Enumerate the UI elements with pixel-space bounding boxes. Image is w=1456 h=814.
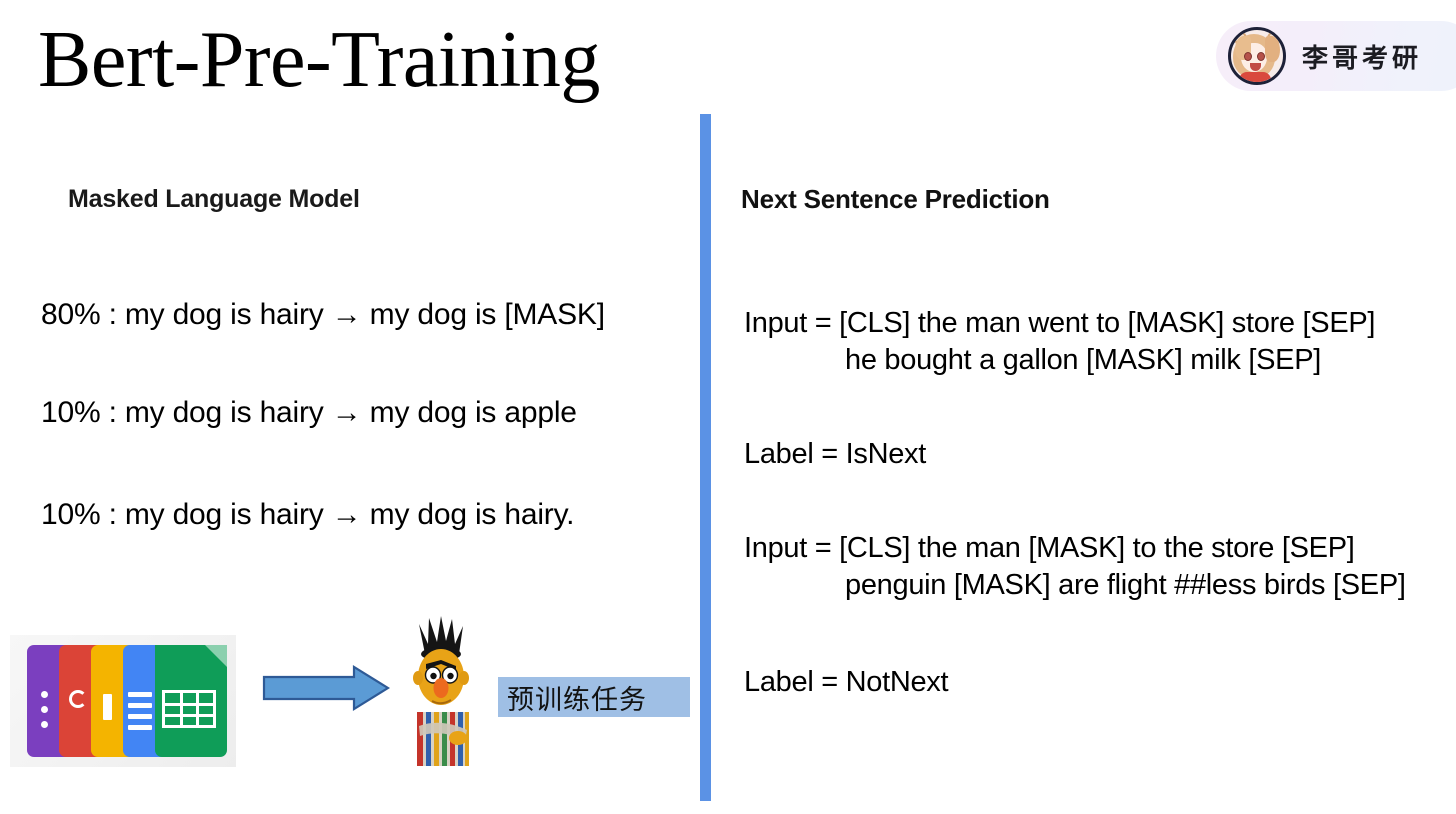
docs-line-row: [128, 725, 152, 730]
avatar-bang-right: [1265, 36, 1280, 62]
avatar-body: [1239, 72, 1271, 82]
right-block-arrow-icon: [262, 664, 390, 712]
docs-table-grid-icon: [162, 690, 216, 728]
avatar-eye-right: [1257, 52, 1265, 61]
brand-name: 李哥考研: [1302, 38, 1422, 75]
nsp-input-block: Input = [CLS] the man [MASK] to the stor…: [744, 530, 1406, 604]
table-vline: [180, 693, 183, 725]
anime-girl-avatar-icon: [1228, 27, 1286, 85]
docs-line-row: [128, 692, 152, 697]
page-title: Bert-Pre-Training: [38, 12, 600, 108]
nsp-label-block: Label = IsNext: [744, 436, 926, 473]
docs-folded-corner: [205, 645, 227, 667]
nsp-input-line1: Input = [CLS] the man went to [MASK] sto…: [744, 307, 1375, 339]
table-hline: [165, 714, 213, 717]
masked-language-model-heading: Masked Language Model: [68, 185, 360, 214]
bert-muppet-icon: [395, 614, 493, 766]
nsp-label-text: Label = NotNext: [744, 666, 948, 698]
mlm-rule-line: 10% : my dog is hairy → my dog is hairy.: [41, 498, 574, 532]
nsp-label-block: Label = NotNext: [744, 664, 948, 701]
google-docs-stack-icon: [10, 635, 236, 767]
mlm-rule-line: 10% : my dog is hairy → my dog is apple: [41, 396, 577, 430]
docs-line-row: [128, 703, 152, 708]
pretraining-task-label: 预训练任务: [498, 677, 690, 717]
nsp-input-block: Input = [CLS] the man went to [MASK] sto…: [744, 305, 1375, 379]
table-hline: [165, 703, 213, 706]
column-divider: [700, 114, 711, 801]
docs-dot: [41, 721, 48, 728]
nsp-input-line1: Input = [CLS] the man [MASK] to the stor…: [744, 532, 1355, 564]
avatar-eye-left: [1244, 52, 1252, 61]
next-sentence-prediction-heading: Next Sentence Prediction: [741, 184, 1050, 215]
slide-canvas: Bert-Pre-Training 李哥考研 Masked Language M…: [0, 0, 1456, 814]
docs-ring-icon: [69, 690, 87, 708]
nsp-input-line2: he bought a gallon [MASK] milk [SEP]: [744, 342, 1375, 379]
table-vline: [196, 693, 199, 725]
docs-bar-icon: [103, 694, 112, 720]
docs-line-row: [128, 714, 152, 719]
docs-dot: [41, 691, 48, 698]
brand-badge[interactable]: 李哥考研: [1216, 21, 1456, 91]
docs-dot: [41, 706, 48, 713]
nsp-label-text: Label = IsNext: [744, 438, 926, 470]
mlm-rule-line: 80% : my dog is hairy → my dog is [MASK]: [41, 298, 605, 332]
nsp-input-line2: penguin [MASK] are flight ##less birds […: [744, 567, 1406, 604]
